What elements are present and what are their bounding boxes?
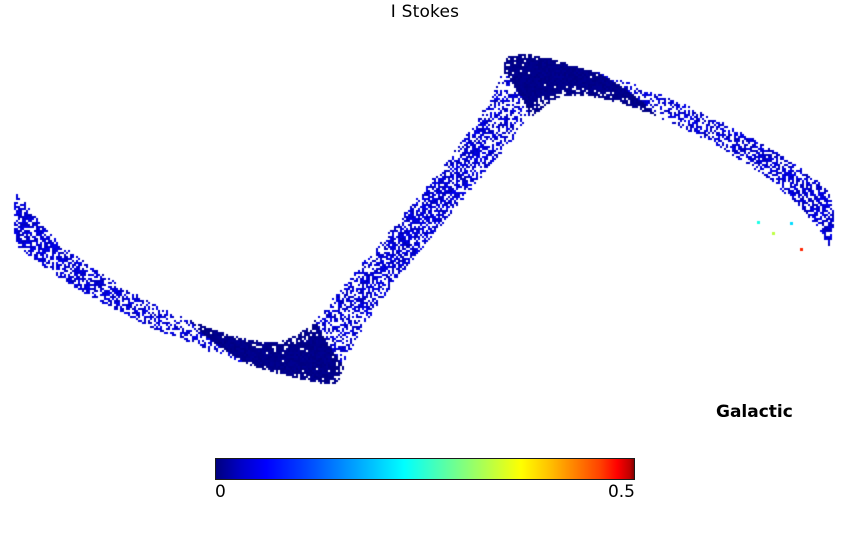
colorbar: 0 0.5 [215, 458, 635, 480]
sky-map-figure: I Stokes Galactic 0 0.5 [0, 0, 850, 540]
coordinate-system-label: Galactic [716, 402, 793, 422]
colorbar-gradient [215, 458, 635, 480]
colorbar-max-label: 0.5 [608, 482, 635, 502]
colorbar-min-label: 0 [215, 482, 226, 502]
page-title: I Stokes [0, 2, 850, 22]
